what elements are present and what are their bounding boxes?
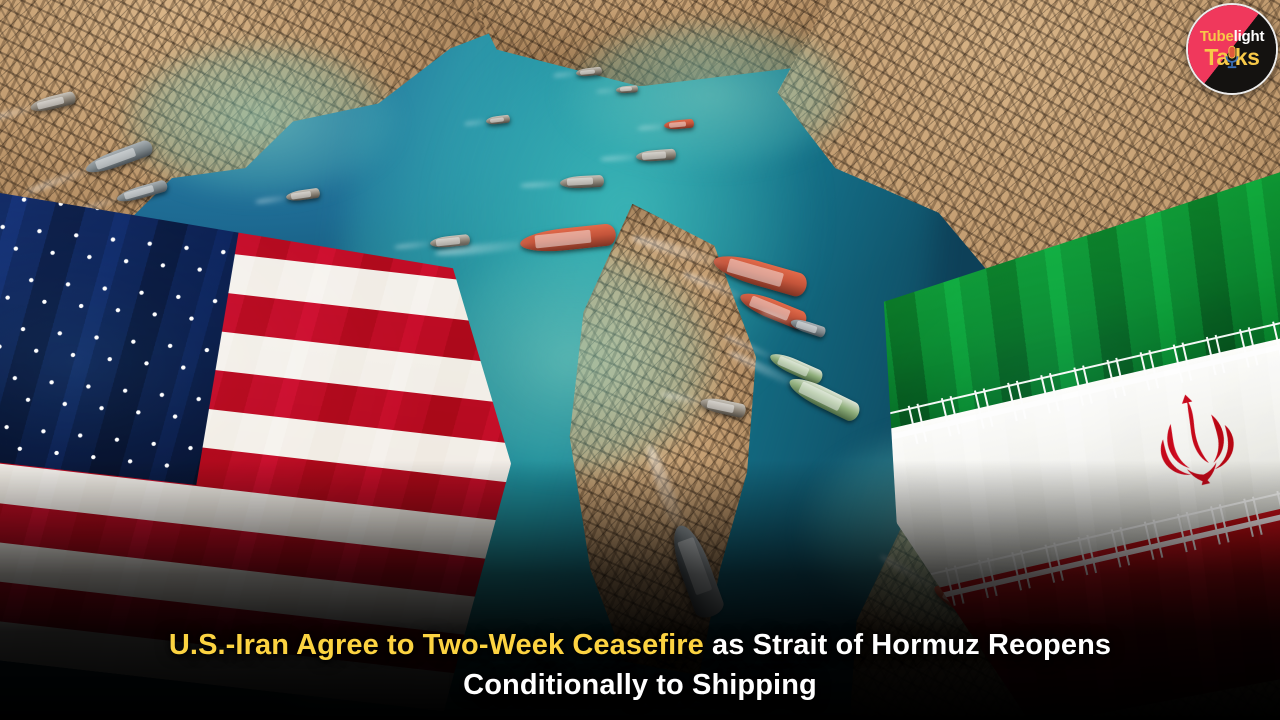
logo-wordmark: Tubelight Talks: [1188, 5, 1276, 93]
ship-deck: [490, 117, 504, 123]
freighter-top: [560, 175, 605, 189]
headline-line2: Conditionally to Shipping: [463, 669, 817, 701]
headline-line1-rest: as Strait of Hormuz Reopens: [704, 629, 1111, 661]
ship-deck: [535, 230, 592, 248]
ship-deck: [642, 152, 666, 160]
ship-deck: [669, 121, 687, 128]
headline: U.S.-Iran Agree to Two-Week Ceasefire as…: [0, 625, 1280, 706]
logo-line-tubelight: Tubelight: [1200, 29, 1265, 44]
microphone-icon: [1224, 45, 1239, 69]
news-thumbnail: U.S.-Iran Agree to Two-Week Ceasefire as…: [0, 0, 1280, 720]
logo-line-talks: Talks: [1204, 46, 1259, 69]
ship-deck: [707, 400, 735, 413]
ship-deck: [619, 87, 632, 92]
ship-deck: [436, 237, 460, 246]
shoal-n: [560, 20, 860, 170]
ship-deck: [291, 191, 311, 199]
ship-deck: [567, 178, 593, 186]
logo-word-tube: Tube: [1200, 28, 1234, 45]
headline-highlight: U.S.-Iran Agree to Two-Week Ceasefire: [169, 629, 704, 661]
ship-deck: [580, 69, 595, 75]
tubelight-talks-logo[interactable]: Tubelight Talks: [1186, 3, 1278, 95]
shoal-nw: [120, 40, 400, 200]
logo-word-light: light: [1234, 28, 1265, 45]
